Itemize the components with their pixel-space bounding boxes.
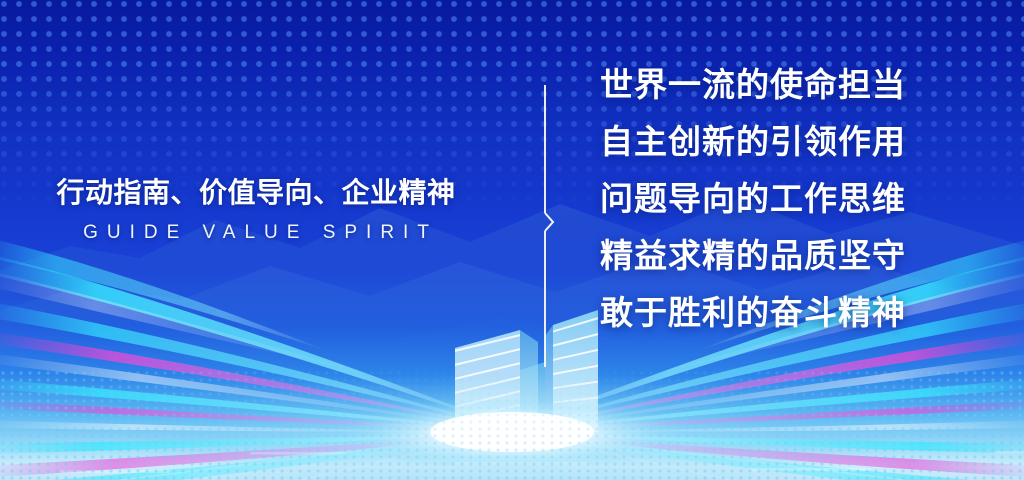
right-line-2: 自主创新的引领作用 bbox=[600, 125, 1000, 158]
ground-dot-texture bbox=[0, 370, 1024, 480]
right-text-block: 世界一流的使命担当 自主创新的引领作用 问题导向的工作思维 精益求精的品质坚守 … bbox=[600, 68, 1000, 329]
left-text-block: 行动指南、价值导向、企业精神 GUIDE VALUE SPIRIT bbox=[0, 178, 512, 244]
right-line-4: 精益求精的品质坚守 bbox=[600, 239, 1000, 272]
chevron-right-icon bbox=[545, 213, 553, 231]
right-line-1: 世界一流的使命担当 bbox=[600, 68, 1000, 101]
left-subtitle: GUIDE VALUE SPIRIT bbox=[0, 222, 512, 244]
divider-svg bbox=[543, 85, 557, 367]
right-line-3: 问题导向的工作思维 bbox=[600, 182, 1000, 215]
right-line-5: 敢于胜利的奋斗精神 bbox=[600, 296, 1000, 329]
left-headline: 行动指南、价值导向、企业精神 bbox=[0, 178, 512, 209]
vertical-divider bbox=[543, 85, 557, 367]
culture-banner: 行动指南、价值导向、企业精神 GUIDE VALUE SPIRIT 世界一流的使… bbox=[0, 0, 1024, 480]
